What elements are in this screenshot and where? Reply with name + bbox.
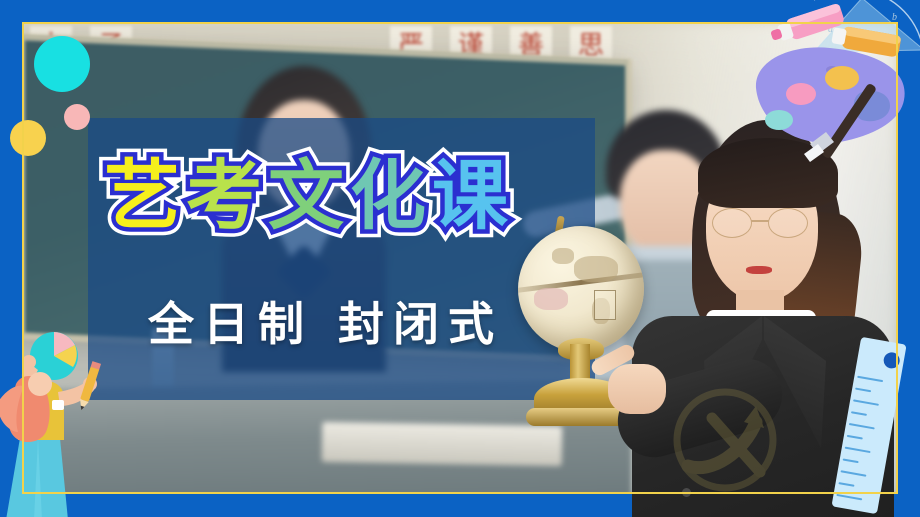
girl-illustration (0, 328, 136, 517)
title-char-2: 考 (186, 158, 268, 234)
girl-face (28, 372, 52, 396)
page-title: 艺考文化课 (104, 158, 514, 234)
glasses-lens-left (712, 208, 752, 238)
page-subtitle: 全日制 封闭式 (148, 288, 503, 354)
hand-palm (608, 364, 666, 414)
title-char-4: 化 (350, 158, 432, 234)
glasses-icon (712, 208, 816, 238)
glasses-bridge (751, 220, 769, 222)
globe-landmass (552, 248, 574, 264)
decor-circle-yellow (10, 120, 46, 156)
teacher-pointing-hand (592, 350, 666, 414)
globe-landmass (534, 288, 568, 310)
paint-blob-pink (786, 83, 816, 105)
ruler (824, 336, 920, 516)
poster-root: 木 子 严 谨 善 思 (0, 0, 920, 517)
title-char-5: 课 (432, 158, 514, 234)
title-char-3: 文 (268, 158, 350, 234)
decor-circle-pink (64, 104, 90, 130)
glasses-lens-right (768, 208, 808, 238)
art-palette-group (744, 0, 920, 166)
paint-blob-cyan (765, 110, 793, 130)
decor-circle-cyan (34, 36, 90, 92)
title-char-1: 艺 (104, 158, 186, 234)
paint-blob-yellow (825, 66, 859, 90)
teacher-lips (746, 266, 772, 274)
blazer-button (682, 488, 691, 497)
